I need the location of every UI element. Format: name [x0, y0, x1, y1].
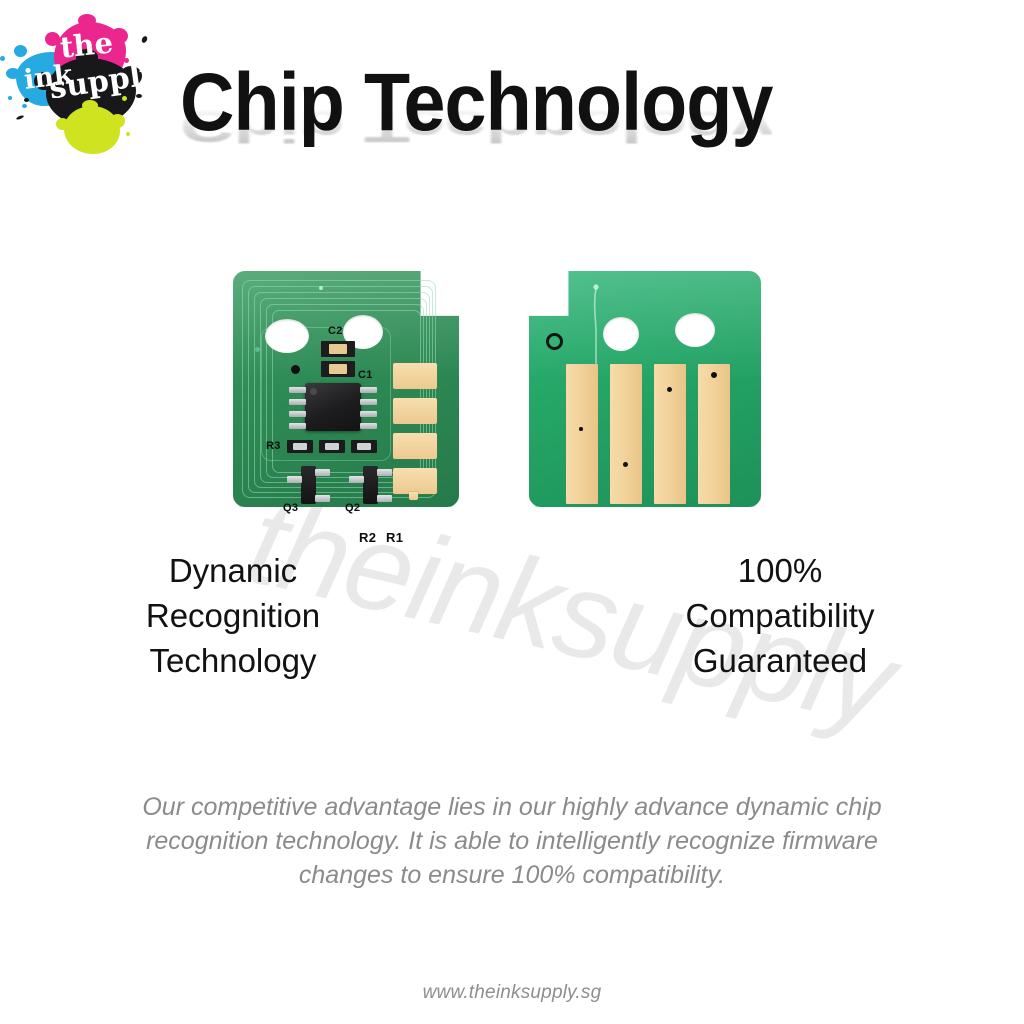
chip-back-image [529, 271, 761, 507]
ic-pin [289, 411, 306, 417]
capacitor-c2 [321, 341, 355, 357]
ic-pin [360, 423, 377, 429]
silk-label-c1: C1 [358, 370, 373, 381]
body-line: recognition technology. It is able to in… [96, 824, 928, 858]
contact-strip [610, 364, 642, 504]
brand-logo[interactable]: ink the supply [8, 6, 158, 156]
resistor [351, 440, 377, 453]
ic-pin [360, 411, 377, 417]
contact-strip [566, 364, 598, 504]
chip-front-image: C2 C1 R3 Q3 [233, 271, 459, 507]
contact-strip [698, 364, 730, 504]
transistor-pin [377, 495, 392, 502]
silk-label-r1: R1 [386, 532, 403, 543]
ic-pin [289, 399, 306, 405]
transistor-q2 [363, 466, 378, 504]
caption-line: 100% [536, 548, 1024, 593]
transistor-pin [315, 495, 330, 502]
contact-pad [393, 468, 437, 494]
mounting-hole [603, 317, 639, 351]
ic-pin [360, 399, 377, 405]
pcb-via [319, 286, 323, 290]
silk-label-q2: Q2 [345, 503, 360, 514]
body-line: Our competitive advantage lies in our hi… [96, 790, 928, 824]
caption-line: Dynamic [0, 548, 466, 593]
body-paragraph: Our competitive advantage lies in our hi… [96, 790, 928, 892]
silk-label-r2: R2 [359, 532, 376, 543]
ic-pin [289, 423, 306, 429]
polarity-marker-icon [546, 333, 563, 350]
integrated-circuit [305, 383, 361, 431]
contact-pad [393, 363, 437, 389]
mounting-hole [265, 319, 309, 353]
capacitor-c1 [321, 361, 355, 377]
strip-via [711, 372, 717, 378]
transistor-pin [377, 469, 392, 476]
ic-pin [289, 387, 306, 393]
silk-label-q3: Q3 [283, 503, 298, 514]
caption-line: Guaranteed [536, 638, 1024, 683]
caption-line: Compatibility [536, 593, 1024, 638]
pcb-via [291, 365, 300, 374]
transistor-q3 [301, 466, 316, 504]
caption-line: Recognition [0, 593, 466, 638]
contact-pad-tail [409, 492, 418, 500]
chip-captions: Dynamic Recognition Technology 100% Comp… [0, 548, 1024, 683]
caption-dynamic-recognition: Dynamic Recognition Technology [0, 548, 512, 683]
yellow-ink-splat-icon [64, 106, 120, 154]
page-title-reflection: Chip Technology [180, 103, 772, 148]
marketing-banner: theinksupply [0, 0, 1024, 1024]
resistor [287, 440, 313, 453]
strip-via [623, 462, 628, 467]
contact-pad [393, 398, 437, 424]
page-title-block: Chip Technology Chip Technology [180, 62, 940, 182]
transistor-pin [349, 476, 364, 483]
strip-via [667, 387, 672, 392]
transistor-pin [315, 469, 330, 476]
silk-label-r3: R3 [266, 441, 281, 452]
body-line: changes to ensure 100% compatibility. [96, 858, 928, 892]
transistor-pin [287, 476, 302, 483]
pcb-via [255, 347, 260, 352]
contact-strip [654, 364, 686, 504]
caption-compatibility: 100% Compatibility Guaranteed [512, 548, 1024, 683]
footer-website[interactable]: www.theinksupply.sg [0, 982, 1024, 1004]
mounting-hole [675, 313, 715, 347]
ic-pin [360, 387, 377, 393]
resistor [319, 440, 345, 453]
strip-via [579, 427, 583, 431]
silk-label-c2: C2 [328, 326, 343, 337]
logo-word-the: the [58, 25, 114, 64]
contact-pad [393, 433, 437, 459]
caption-line: Technology [0, 638, 466, 683]
